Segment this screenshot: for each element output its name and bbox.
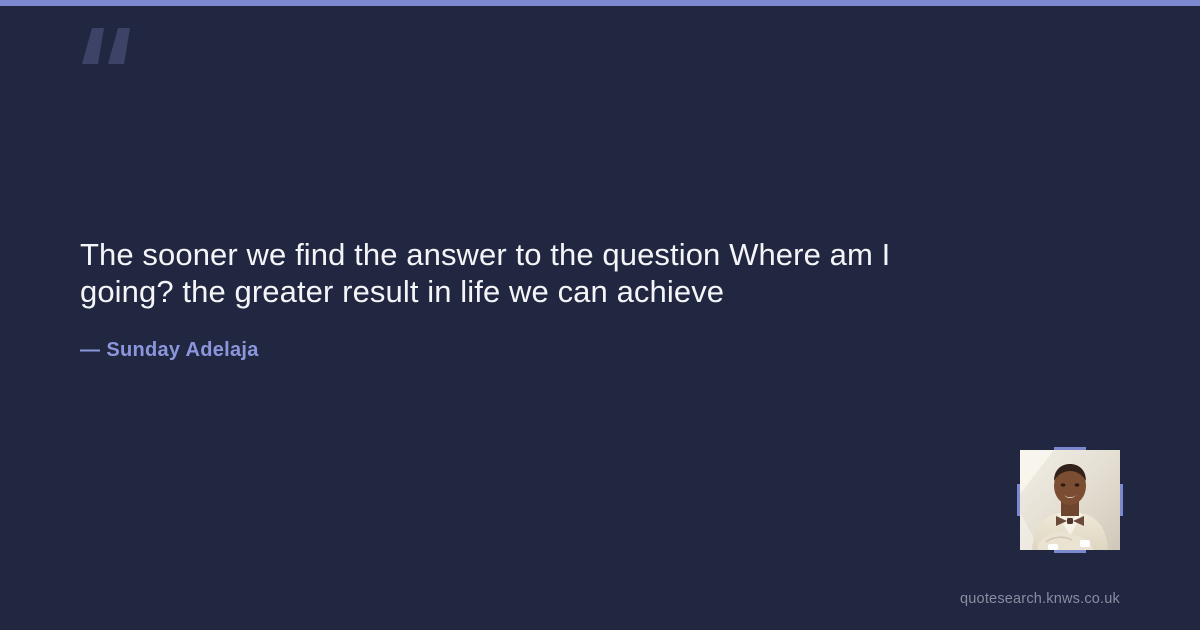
- portrait-frame-tick-left: [1017, 484, 1020, 516]
- accent-bar: [0, 0, 1200, 6]
- quote-author: —Sunday Adelaja: [80, 339, 259, 362]
- quote-text: The sooner we find the answer to the que…: [80, 236, 980, 310]
- portrait-frame-tick-bottom: [1054, 550, 1086, 553]
- quote-block: The sooner we find the answer to the que…: [80, 236, 980, 310]
- open-quote-icon: [78, 24, 142, 84]
- source-url: quotesearch.knws.co.uk: [960, 591, 1120, 607]
- author-portrait: [1020, 450, 1120, 550]
- author-dash: —: [80, 339, 100, 361]
- portrait-image: [1020, 450, 1120, 550]
- quote-card: The sooner we find the answer to the que…: [0, 0, 1200, 630]
- author-name: Sunday Adelaja: [106, 339, 258, 361]
- portrait-frame-tick-right: [1120, 484, 1123, 516]
- portrait-frame-tick-top: [1054, 447, 1086, 450]
